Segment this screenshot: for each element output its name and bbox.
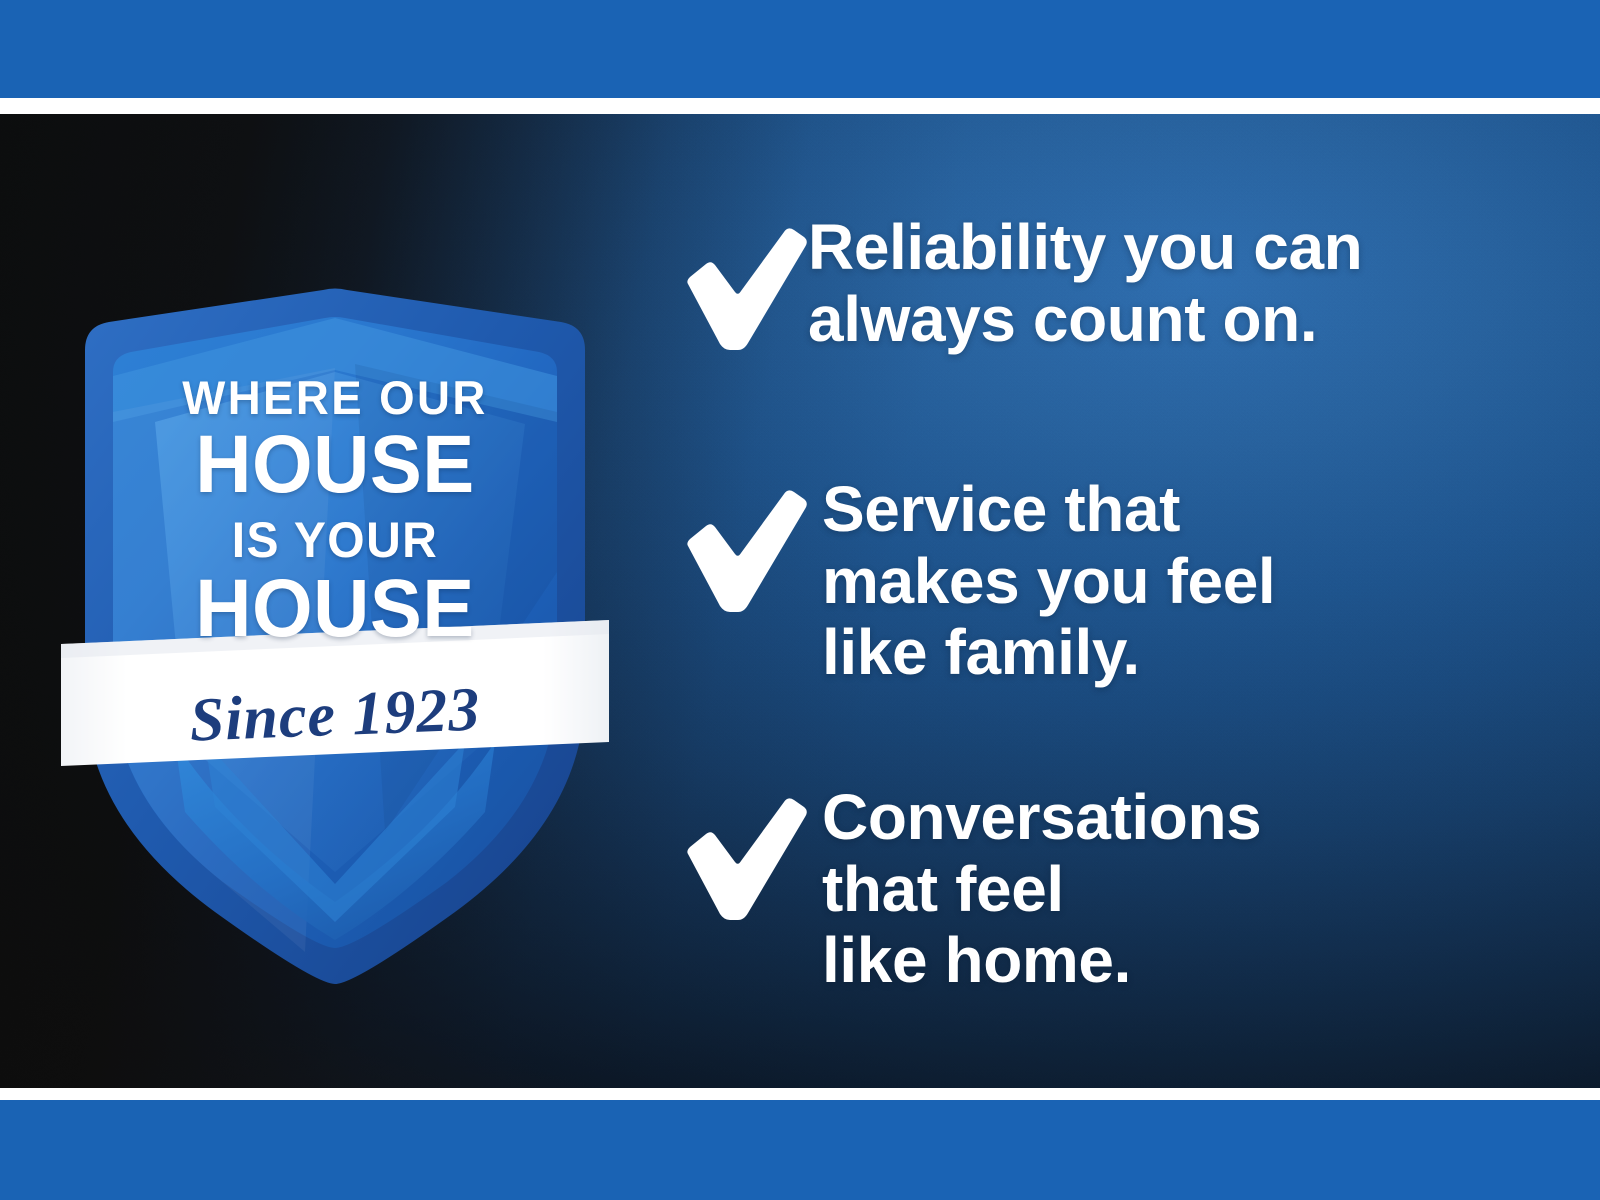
benefit-text-3: Conversations that feel like home. [808, 776, 1261, 997]
bottom-brand-bar [0, 1100, 1600, 1200]
checkmark-icon [672, 794, 808, 924]
benefit-item-1: Reliability you can always count on. [672, 206, 1362, 355]
benefit-text-2: Service that makes you feel like family. [808, 468, 1275, 689]
company-badge: WHERE OUR HOUSE IS YOUR HOUSE Since 1923 [55, 272, 615, 952]
benefit-item-2: Service that makes you feel like family. [672, 468, 1275, 689]
promo-poster: WHERE OUR HOUSE IS YOUR HOUSE Since 1923… [0, 0, 1600, 1200]
top-brand-bar [0, 0, 1600, 98]
checkmark-icon [672, 224, 808, 354]
benefit-item-3: Conversations that feel like home. [672, 776, 1261, 997]
since-ribbon [61, 620, 609, 766]
benefit-text-1: Reliability you can always count on. [808, 206, 1362, 355]
shield-graphic [55, 272, 615, 952]
checkmark-icon [672, 486, 808, 616]
main-canvas: WHERE OUR HOUSE IS YOUR HOUSE Since 1923… [0, 114, 1600, 1088]
